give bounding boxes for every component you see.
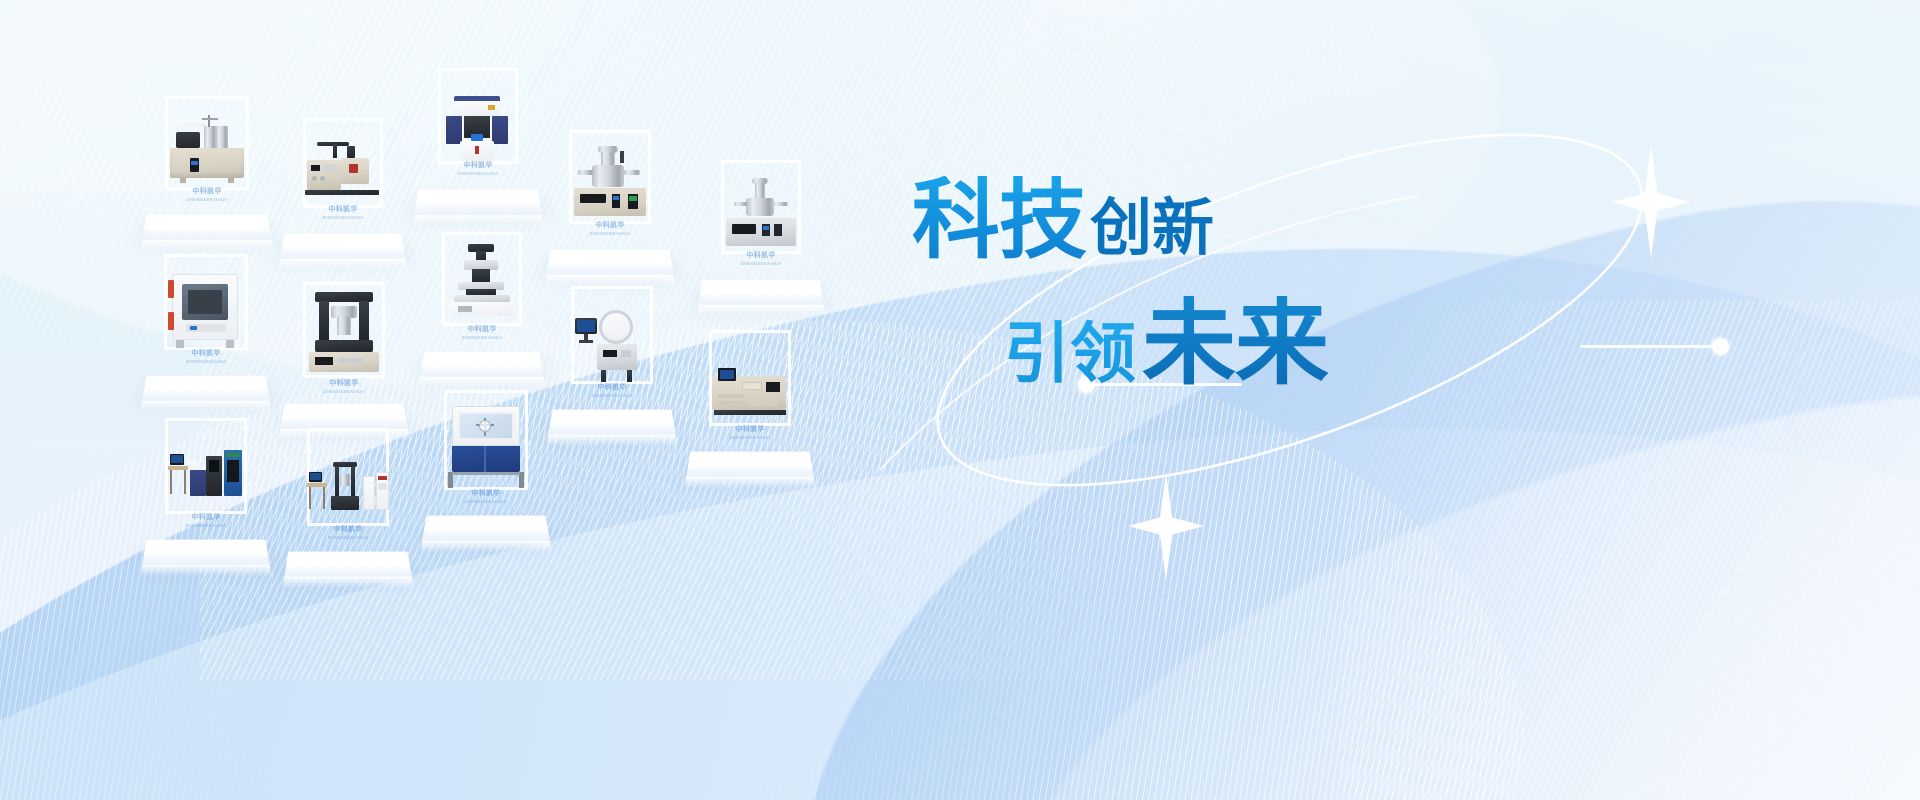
product-pedestal [546, 250, 674, 276]
product-tile: 中科凯华ZHONGKEKAIHUA [548, 286, 676, 436]
product-watermark: 中科凯华ZHONGKEKAIHUA [187, 188, 228, 202]
product-tile: 中科凯华ZHONGKEKAIHUA [284, 428, 412, 578]
product-watermark: 中科凯华ZHONGKEKAIHUA [730, 426, 771, 440]
product-image [706, 356, 794, 426]
product-tile: 中科凯华ZHONGKEKAIHUA [414, 68, 542, 216]
product-image [566, 142, 654, 224]
product-pedestal [142, 215, 272, 241]
product-pedestal [422, 516, 550, 542]
product-image [568, 300, 656, 386]
product-pedestal [142, 376, 270, 402]
product-pedestal [420, 352, 544, 378]
product-tile: 中科凯华ZHONGKEKAIHUA [420, 232, 544, 378]
product-watermark: 中科凯华ZHONGKEKAIHUA [466, 490, 507, 504]
product-image [441, 402, 531, 490]
product-watermark: 中科凯华ZHONGKEKAIHUA [324, 380, 365, 394]
hero-headline: 科技 创新 引领 未来 [912, 176, 1372, 390]
product-image [162, 438, 250, 514]
headline-line-1: 科技 创新 [912, 176, 1372, 264]
product-image [439, 242, 525, 326]
headline-line1-primary: 科技 [912, 176, 1086, 264]
hero-banner: 中科凯华ZHONGKEKAIHUA [0, 0, 1920, 800]
product-tile: 中科凯华ZHONGKEKAIHUA [280, 118, 406, 260]
product-pedestal [686, 452, 814, 478]
product-pedestal [414, 190, 542, 216]
product-watermark: 中科凯华ZHONGKEKAIHUA [458, 162, 499, 176]
product-pedestal [698, 280, 824, 306]
product-image [718, 174, 804, 254]
product-pedestal [280, 234, 406, 260]
product-tile: 中科凯华ZHONGKEKAIHUA [546, 130, 674, 276]
product-pedestal [548, 410, 676, 436]
product-tile: 中科凯华ZHONGKEKAIHUA [142, 418, 270, 566]
product-image [161, 268, 251, 352]
product-watermark: 中科凯华ZHONGKEKAIHUA [741, 252, 782, 266]
product-tile: 中科凯华ZHONGKEKAIHUA [686, 330, 814, 478]
product-watermark: 中科凯华ZHONGKEKAIHUA [328, 526, 369, 540]
headline-line2-secondary: 未来 [1142, 296, 1328, 390]
product-tile: 中科凯华ZHONGKEKAIHUA [142, 254, 270, 402]
product-tile: 中科凯华ZHONGKEKAIHUA [422, 390, 550, 542]
product-watermark: 中科凯华ZHONGKEKAIHUA [186, 350, 227, 364]
product-pedestal [142, 540, 270, 566]
product-pedestal [280, 404, 408, 430]
headline-line2-primary: 引领 [1004, 320, 1136, 390]
product-tile: 中科凯华ZHONGKEKAIHUA [698, 160, 824, 306]
product-image [435, 88, 521, 168]
product-watermark: 中科凯华ZHONGKEKAIHUA [592, 384, 633, 398]
product-watermark: 中科凯华ZHONGKEKAIHUA [186, 514, 227, 528]
product-tile: 中科凯华ZHONGKEKAIHUA [280, 282, 408, 430]
product-image [299, 134, 387, 210]
product-image [300, 290, 388, 378]
product-watermark: 中科凯华ZHONGKEKAIHUA [590, 222, 631, 236]
product-image [162, 110, 252, 190]
product-showcase-grid: 中科凯华ZHONGKEKAIHUA [0, 0, 1920, 800]
product-watermark: 中科凯华ZHONGKEKAIHUA [323, 206, 364, 220]
headline-line1-secondary: 创新 [1090, 198, 1214, 264]
headline-line-2: 引领 未来 [912, 296, 1372, 390]
product-tile: 中科凯华ZHONGKEKAIHUA [142, 96, 272, 241]
product-image [304, 452, 392, 526]
product-pedestal [284, 552, 412, 578]
product-watermark: 中科凯华ZHONGKEKAIHUA [462, 326, 503, 340]
